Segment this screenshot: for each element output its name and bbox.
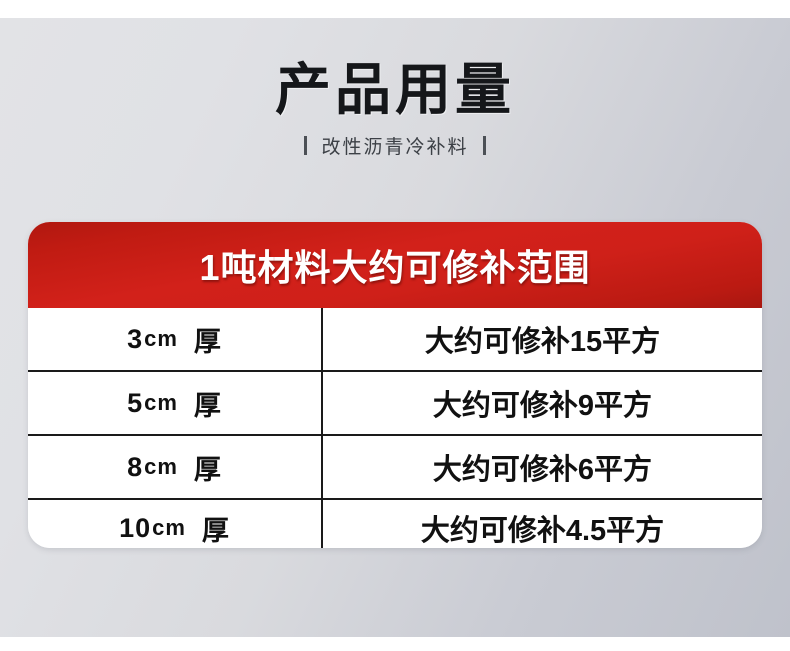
thickness-unit: cm — [144, 454, 178, 480]
page-subtitle: 改性沥青冷补料 — [321, 132, 468, 159]
product-usage-poster: 产品用量 改性沥青冷补料 1吨材料大约可修补范围 3cm厚 大约可修补15平方 … — [0, 0, 790, 651]
table-row: 3cm厚 大约可修补15平方 — [28, 308, 762, 372]
cell-thickness: 10cm厚 — [28, 500, 323, 548]
table-row: 10cm厚 大约可修补4.5平方 — [28, 500, 762, 548]
table-header-title: 1吨材料大约可修补范围 — [199, 239, 590, 291]
cell-coverage: 大约可修补6平方 — [323, 436, 762, 498]
thickness-word: 厚 — [194, 320, 222, 359]
page-title: 产品用量 — [0, 60, 790, 120]
cell-coverage: 大约可修补9平方 — [323, 372, 762, 434]
poster-header: 产品用量 改性沥青冷补料 — [0, 60, 790, 159]
thickness-value: 8 — [127, 452, 143, 483]
thickness-word: 厚 — [202, 509, 230, 548]
cell-thickness: 8cm厚 — [28, 436, 323, 498]
usage-table-card: 1吨材料大约可修补范围 3cm厚 大约可修补15平方 5cm厚 大约可修补9平方… — [28, 222, 762, 548]
table-row: 8cm厚 大约可修补6平方 — [28, 436, 762, 500]
table-row: 5cm厚 大约可修补9平方 — [28, 372, 762, 436]
table-header-bar: 1吨材料大约可修补范围 — [28, 222, 762, 308]
thickness-value: 5 — [127, 388, 143, 419]
cell-thickness: 5cm厚 — [28, 372, 323, 434]
thickness-unit: cm — [144, 390, 178, 416]
thickness-word: 厚 — [194, 448, 222, 487]
cell-coverage: 大约可修补15平方 — [323, 308, 762, 370]
vertical-bar-left-icon — [304, 136, 307, 155]
thickness-unit: cm — [144, 326, 178, 352]
table-body: 3cm厚 大约可修补15平方 5cm厚 大约可修补9平方 8cm厚 大约可修补6… — [28, 308, 762, 548]
thickness-unit: cm — [152, 515, 186, 541]
cell-thickness: 3cm厚 — [28, 308, 323, 370]
subtitle-row: 改性沥青冷补料 — [0, 132, 790, 159]
thickness-value: 10 — [119, 513, 151, 544]
thickness-word: 厚 — [194, 384, 222, 423]
vertical-bar-right-icon — [483, 136, 486, 155]
cell-coverage: 大约可修补4.5平方 — [323, 500, 762, 548]
thickness-value: 3 — [127, 324, 143, 355]
